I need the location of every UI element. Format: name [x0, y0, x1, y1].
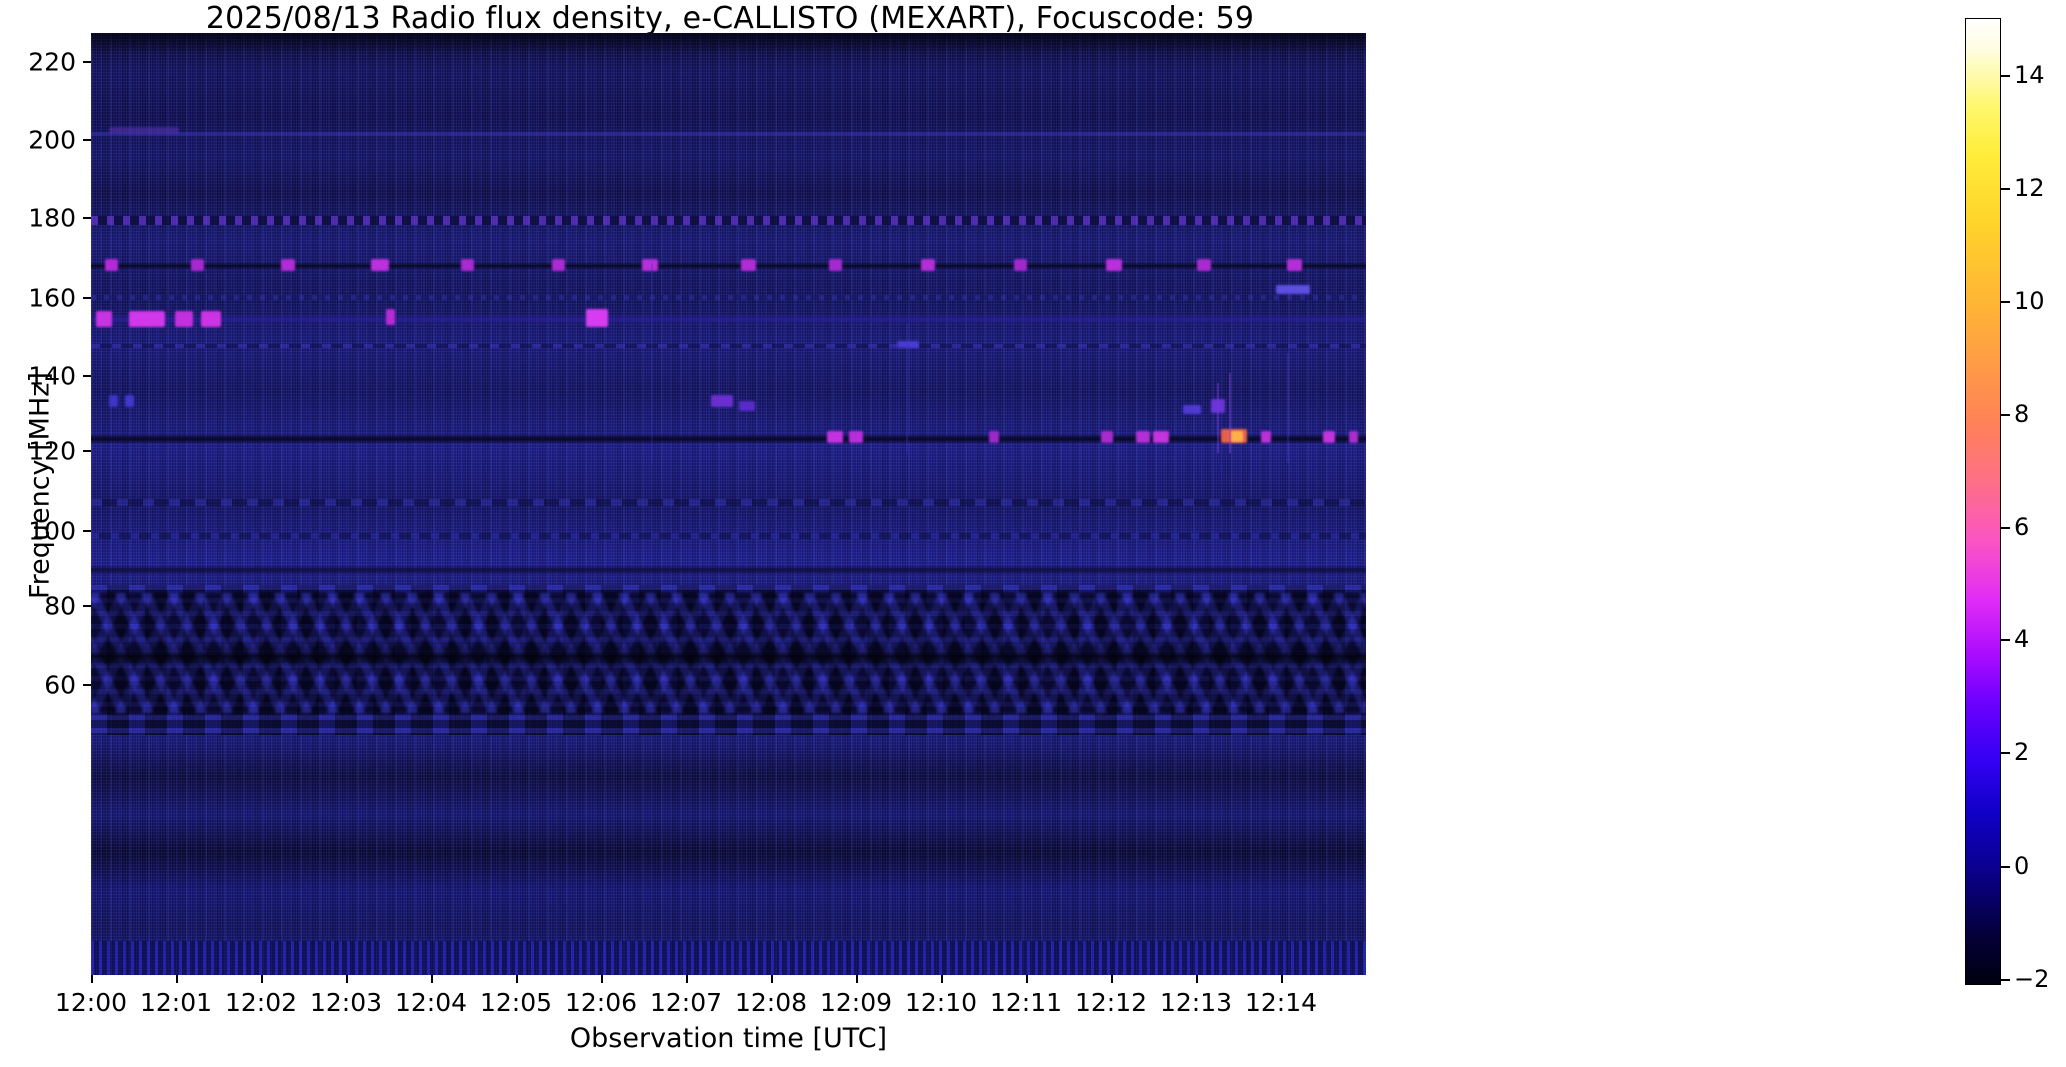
- x-tick-mark: [601, 975, 603, 983]
- rfi-patch-200mhz: [109, 127, 179, 133]
- burst-155mhz: [96, 311, 112, 327]
- x-tick-mark: [261, 975, 263, 983]
- x-tick-label-1201: 12:01: [140, 988, 212, 1017]
- colorbar-tick-label-4: 4: [2014, 625, 2029, 653]
- x-tick-label-1208: 12:08: [735, 988, 807, 1017]
- burst-155mhz: [586, 309, 608, 327]
- colorbar-tick-mark: [2001, 527, 2010, 529]
- colorbar-tick-mark: [2001, 752, 2010, 754]
- x-tick-mark: [1111, 975, 1113, 983]
- x-tick-mark: [431, 975, 433, 983]
- y-tick-label-80: 80: [0, 592, 76, 621]
- burst-167mhz: [552, 259, 565, 271]
- burst-125mhz: [827, 431, 843, 443]
- rfi-line-155mhz: [91, 316, 1366, 323]
- page-title: 2025/08/13 Radio flux density, e-CALLIST…: [0, 2, 1460, 36]
- x-tick-mark: [1026, 975, 1028, 983]
- y-tick-mark: [83, 450, 91, 452]
- burst-135mhz: [109, 395, 118, 407]
- burst-167mhz: [105, 259, 118, 271]
- burst-125mhz: [1136, 431, 1150, 443]
- burst-167mhz: [371, 259, 389, 271]
- colorbar-tick-label-10: 10: [2014, 287, 2045, 315]
- burst-167mhz: [281, 259, 295, 271]
- y-tick-mark: [83, 61, 91, 63]
- y-tick-label-200: 200: [0, 126, 76, 155]
- colorbar-tick-label-12: 12: [2014, 174, 2045, 202]
- burst-125mhz: [1101, 431, 1113, 443]
- x-tick-label-1205: 12:05: [480, 988, 552, 1017]
- colorbar-tick-mark: [2001, 979, 2010, 981]
- colorbar-tick-mark: [2001, 75, 2010, 77]
- burst-125mhz-bright: [1231, 431, 1243, 442]
- burst-135mhz: [711, 395, 733, 407]
- burst-155mhz: [201, 311, 221, 327]
- burst-125mhz: [1261, 431, 1271, 443]
- y-tick-label-100: 100: [0, 517, 76, 546]
- burst-125mhz: [849, 431, 863, 443]
- burst-125mhz: [1153, 431, 1169, 443]
- rfi-line-125mhz: [91, 435, 1366, 443]
- x-tick-label-1212: 12:12: [1075, 988, 1147, 1017]
- y-tick-mark: [83, 530, 91, 532]
- burst-125mhz: [1323, 431, 1335, 443]
- y-tick-mark: [83, 297, 91, 299]
- x-tick-label-1204: 12:04: [395, 988, 467, 1017]
- y-tick-label-140: 140: [0, 362, 76, 391]
- burst-125mhz: [1349, 431, 1358, 443]
- y-tick-label-120: 120: [0, 437, 76, 466]
- burst-135mhz: [125, 395, 134, 407]
- x-tick-mark: [346, 975, 348, 983]
- colorbar-tick-mark: [2001, 188, 2010, 190]
- colorbar-tick-mark: [2001, 301, 2010, 303]
- x-tick-mark: [176, 975, 178, 983]
- y-tick-label-60: 60: [0, 671, 76, 700]
- burst-167mhz: [1197, 259, 1211, 271]
- colorbar-gradient: [1966, 19, 2000, 984]
- colorbar-tick-label-14: 14: [2014, 61, 2045, 89]
- colorbar-tick-label-0: 0: [2014, 852, 2029, 880]
- rfi-line-160mhz: [91, 295, 1366, 300]
- burst-135mhz: [739, 401, 755, 411]
- top-edge-shade: [91, 33, 1366, 53]
- x-tick-mark: [771, 975, 773, 983]
- y-tick-mark: [83, 684, 91, 686]
- x-tick-mark: [856, 975, 858, 983]
- x-tick-mark: [91, 975, 93, 983]
- x-tick-label-1207: 12:07: [650, 988, 722, 1017]
- x-tick-label-1200: 12:00: [55, 988, 127, 1017]
- rfi-streak: [651, 263, 653, 463]
- burst-160mhz: [1276, 285, 1310, 294]
- rfi-streak: [906, 323, 908, 453]
- burst-155mhz: [175, 311, 193, 327]
- rfi-streak: [1287, 353, 1289, 463]
- burst-167mhz: [642, 259, 658, 271]
- rfi-line-176mhz: [91, 216, 1366, 225]
- rfi-streak: [1229, 373, 1231, 453]
- colorbar-tick-mark: [2001, 639, 2010, 641]
- x-tick-mark: [1281, 975, 1283, 983]
- x-tick-label-1213: 12:13: [1160, 988, 1232, 1017]
- burst-167mhz: [829, 259, 842, 271]
- x-tick-label-1203: 12:03: [310, 988, 382, 1017]
- burst-167mhz: [191, 259, 204, 271]
- x-tick-label-1206: 12:06: [565, 988, 637, 1017]
- rfi-line-90mhz: [91, 566, 1366, 574]
- burst-167mhz: [741, 259, 756, 271]
- rfi-line-148mhz: [91, 344, 1366, 348]
- colorbar-tick-label-8: 8: [2014, 400, 2029, 428]
- dark-trough-73mhz: [91, 645, 1366, 667]
- y-tick-mark: [83, 139, 91, 141]
- burst-167mhz: [921, 259, 935, 271]
- burst-167mhz: [1014, 259, 1027, 271]
- rfi-streak: [1217, 383, 1219, 453]
- burst-135mhz: [1183, 405, 1201, 414]
- burst-125mhz: [989, 431, 999, 443]
- y-tick-mark: [83, 375, 91, 377]
- colorbar-tick-label-2: 2: [2014, 738, 2029, 766]
- y-tick-label-160: 160: [0, 284, 76, 313]
- y-tick-mark: [83, 605, 91, 607]
- x-tick-label-1202: 12:02: [225, 988, 297, 1017]
- x-tick-mark: [516, 975, 518, 983]
- burst-155mhz: [129, 311, 165, 327]
- burst-155mhz: [386, 309, 395, 325]
- x-tick-label-1209: 12:09: [820, 988, 892, 1017]
- colorbar-tick-mark: [2001, 414, 2010, 416]
- burst-167mhz: [461, 259, 474, 271]
- x-tick-label-1214: 12:14: [1245, 988, 1317, 1017]
- burst-148mhz: [897, 341, 919, 348]
- x-tick-mark: [1196, 975, 1198, 983]
- burst-167mhz: [1106, 259, 1122, 271]
- rfi-line-200mhz: [91, 131, 1366, 137]
- y-tick-mark: [83, 217, 91, 219]
- colorbar-tick-mark: [2001, 866, 2010, 868]
- colorbar-tick-label-minus2: −2: [2014, 965, 2049, 993]
- rfi-line-103mhz: [91, 499, 1366, 506]
- colorbar[interactable]: [1965, 18, 2001, 985]
- colorbar-tick-label-6: 6: [2014, 513, 2029, 541]
- spectrogram-plot-area[interactable]: [91, 33, 1366, 975]
- rfi-line-97mhz: [91, 533, 1366, 539]
- y-tick-label-180: 180: [0, 204, 76, 233]
- x-tick-label-1210: 12:10: [905, 988, 977, 1017]
- x-tick-mark: [686, 975, 688, 983]
- y-tick-label-220: 220: [0, 48, 76, 77]
- burst-167mhz: [1287, 259, 1302, 271]
- x-axis-label: Observation time [UTC]: [91, 1023, 1366, 1054]
- x-tick-label-1211: 12:11: [990, 988, 1062, 1017]
- bottom-edge-band: [91, 941, 1366, 975]
- x-tick-mark: [941, 975, 943, 983]
